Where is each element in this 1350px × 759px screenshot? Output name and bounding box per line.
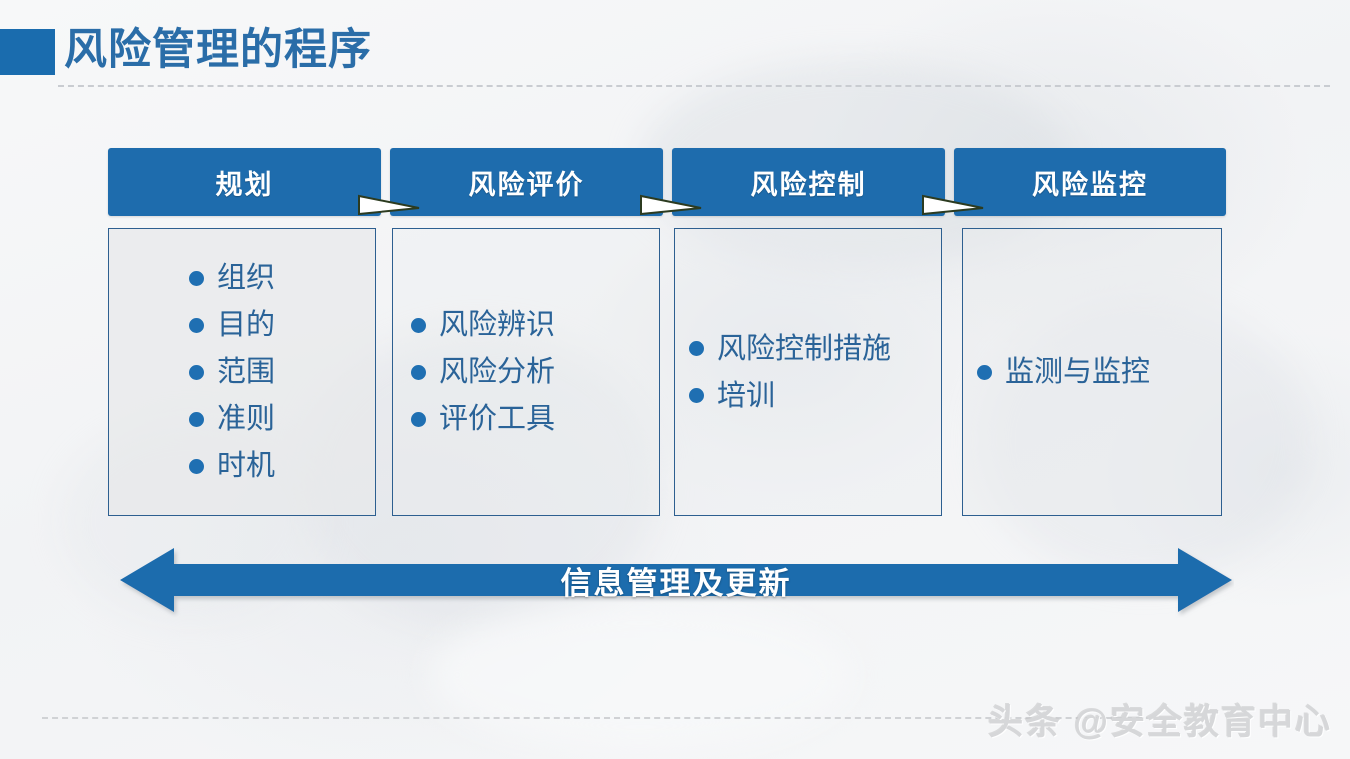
list-item-label: 风险控制措施: [717, 329, 891, 369]
list-item: 监测与监控: [977, 352, 1221, 392]
stage-header-label: 规划: [216, 163, 274, 202]
banner-label: 信息管理及更新: [118, 542, 1234, 618]
list-item: 目的: [189, 305, 375, 345]
bullet-dot-icon: [189, 365, 204, 380]
list-item-label: 评价工具: [439, 399, 555, 439]
list-item-label: 风险辨识: [439, 305, 555, 345]
stage-body-0: 组织 目的 范围 准则 时机: [108, 228, 376, 516]
stage-body-1: 风险辨识 风险分析 评价工具: [392, 228, 660, 516]
bullet-dot-icon: [411, 318, 426, 333]
bullet-list: 风险控制措施 培训: [675, 329, 941, 416]
bullet-dot-icon: [189, 318, 204, 333]
stage-body-2: 风险控制措施 培训: [674, 228, 942, 516]
stage-header-label: 风险评价: [469, 163, 585, 202]
list-item-label: 培训: [717, 376, 775, 416]
list-item-label: 风险分析: [439, 352, 555, 392]
list-item: 评价工具: [411, 399, 659, 439]
list-item: 时机: [189, 446, 375, 486]
bullet-dot-icon: [411, 365, 426, 380]
list-item-label: 目的: [217, 305, 275, 345]
bullet-list: 监测与监控: [963, 352, 1221, 392]
list-item-label: 时机: [217, 446, 275, 486]
stage-header-2[interactable]: 风险控制: [672, 148, 945, 216]
list-item-label: 准则: [217, 399, 275, 439]
list-item: 准则: [189, 399, 375, 439]
bullet-list: 风险辨识 风险分析 评价工具: [393, 305, 659, 439]
stage-body-3: 监测与监控: [962, 228, 1222, 516]
list-item: 风险辨识: [411, 305, 659, 345]
stage-header-3[interactable]: 风险监控: [954, 148, 1226, 216]
stage-header-label: 风险控制: [751, 163, 867, 202]
stage-header-label: 风险监控: [1032, 163, 1148, 202]
list-item-label: 组织: [217, 258, 275, 298]
background-texture: [430, 600, 850, 750]
bullet-dot-icon: [189, 459, 204, 474]
list-item-label: 监测与监控: [1005, 352, 1150, 392]
list-item: 范围: [189, 352, 375, 392]
watermark: 头条 @安全教育中心: [988, 694, 1332, 745]
list-item: 培训: [689, 376, 941, 416]
list-item: 风险控制措施: [689, 329, 941, 369]
list-item: 组织: [189, 258, 375, 298]
page-title: 风险管理的程序: [64, 21, 372, 79]
stage-header-0[interactable]: 规划: [108, 148, 381, 216]
list-item-label: 范围: [217, 352, 275, 392]
bullet-dot-icon: [689, 341, 704, 356]
bullet-dot-icon: [411, 412, 426, 427]
list-item: 风险分析: [411, 352, 659, 392]
title-accent-square: [0, 29, 55, 75]
bullet-dot-icon: [189, 412, 204, 427]
title-divider: [58, 85, 1330, 87]
bullet-dot-icon: [689, 388, 704, 403]
slide-canvas: 风险管理的程序 规划 风险评价 风险控制 风险监控 组织 目的: [0, 0, 1350, 759]
stage-header-1[interactable]: 风险评价: [390, 148, 663, 216]
bullet-list: 组织 目的 范围 准则 时机: [109, 258, 375, 486]
bullet-dot-icon: [189, 271, 204, 286]
bullet-dot-icon: [977, 365, 992, 380]
